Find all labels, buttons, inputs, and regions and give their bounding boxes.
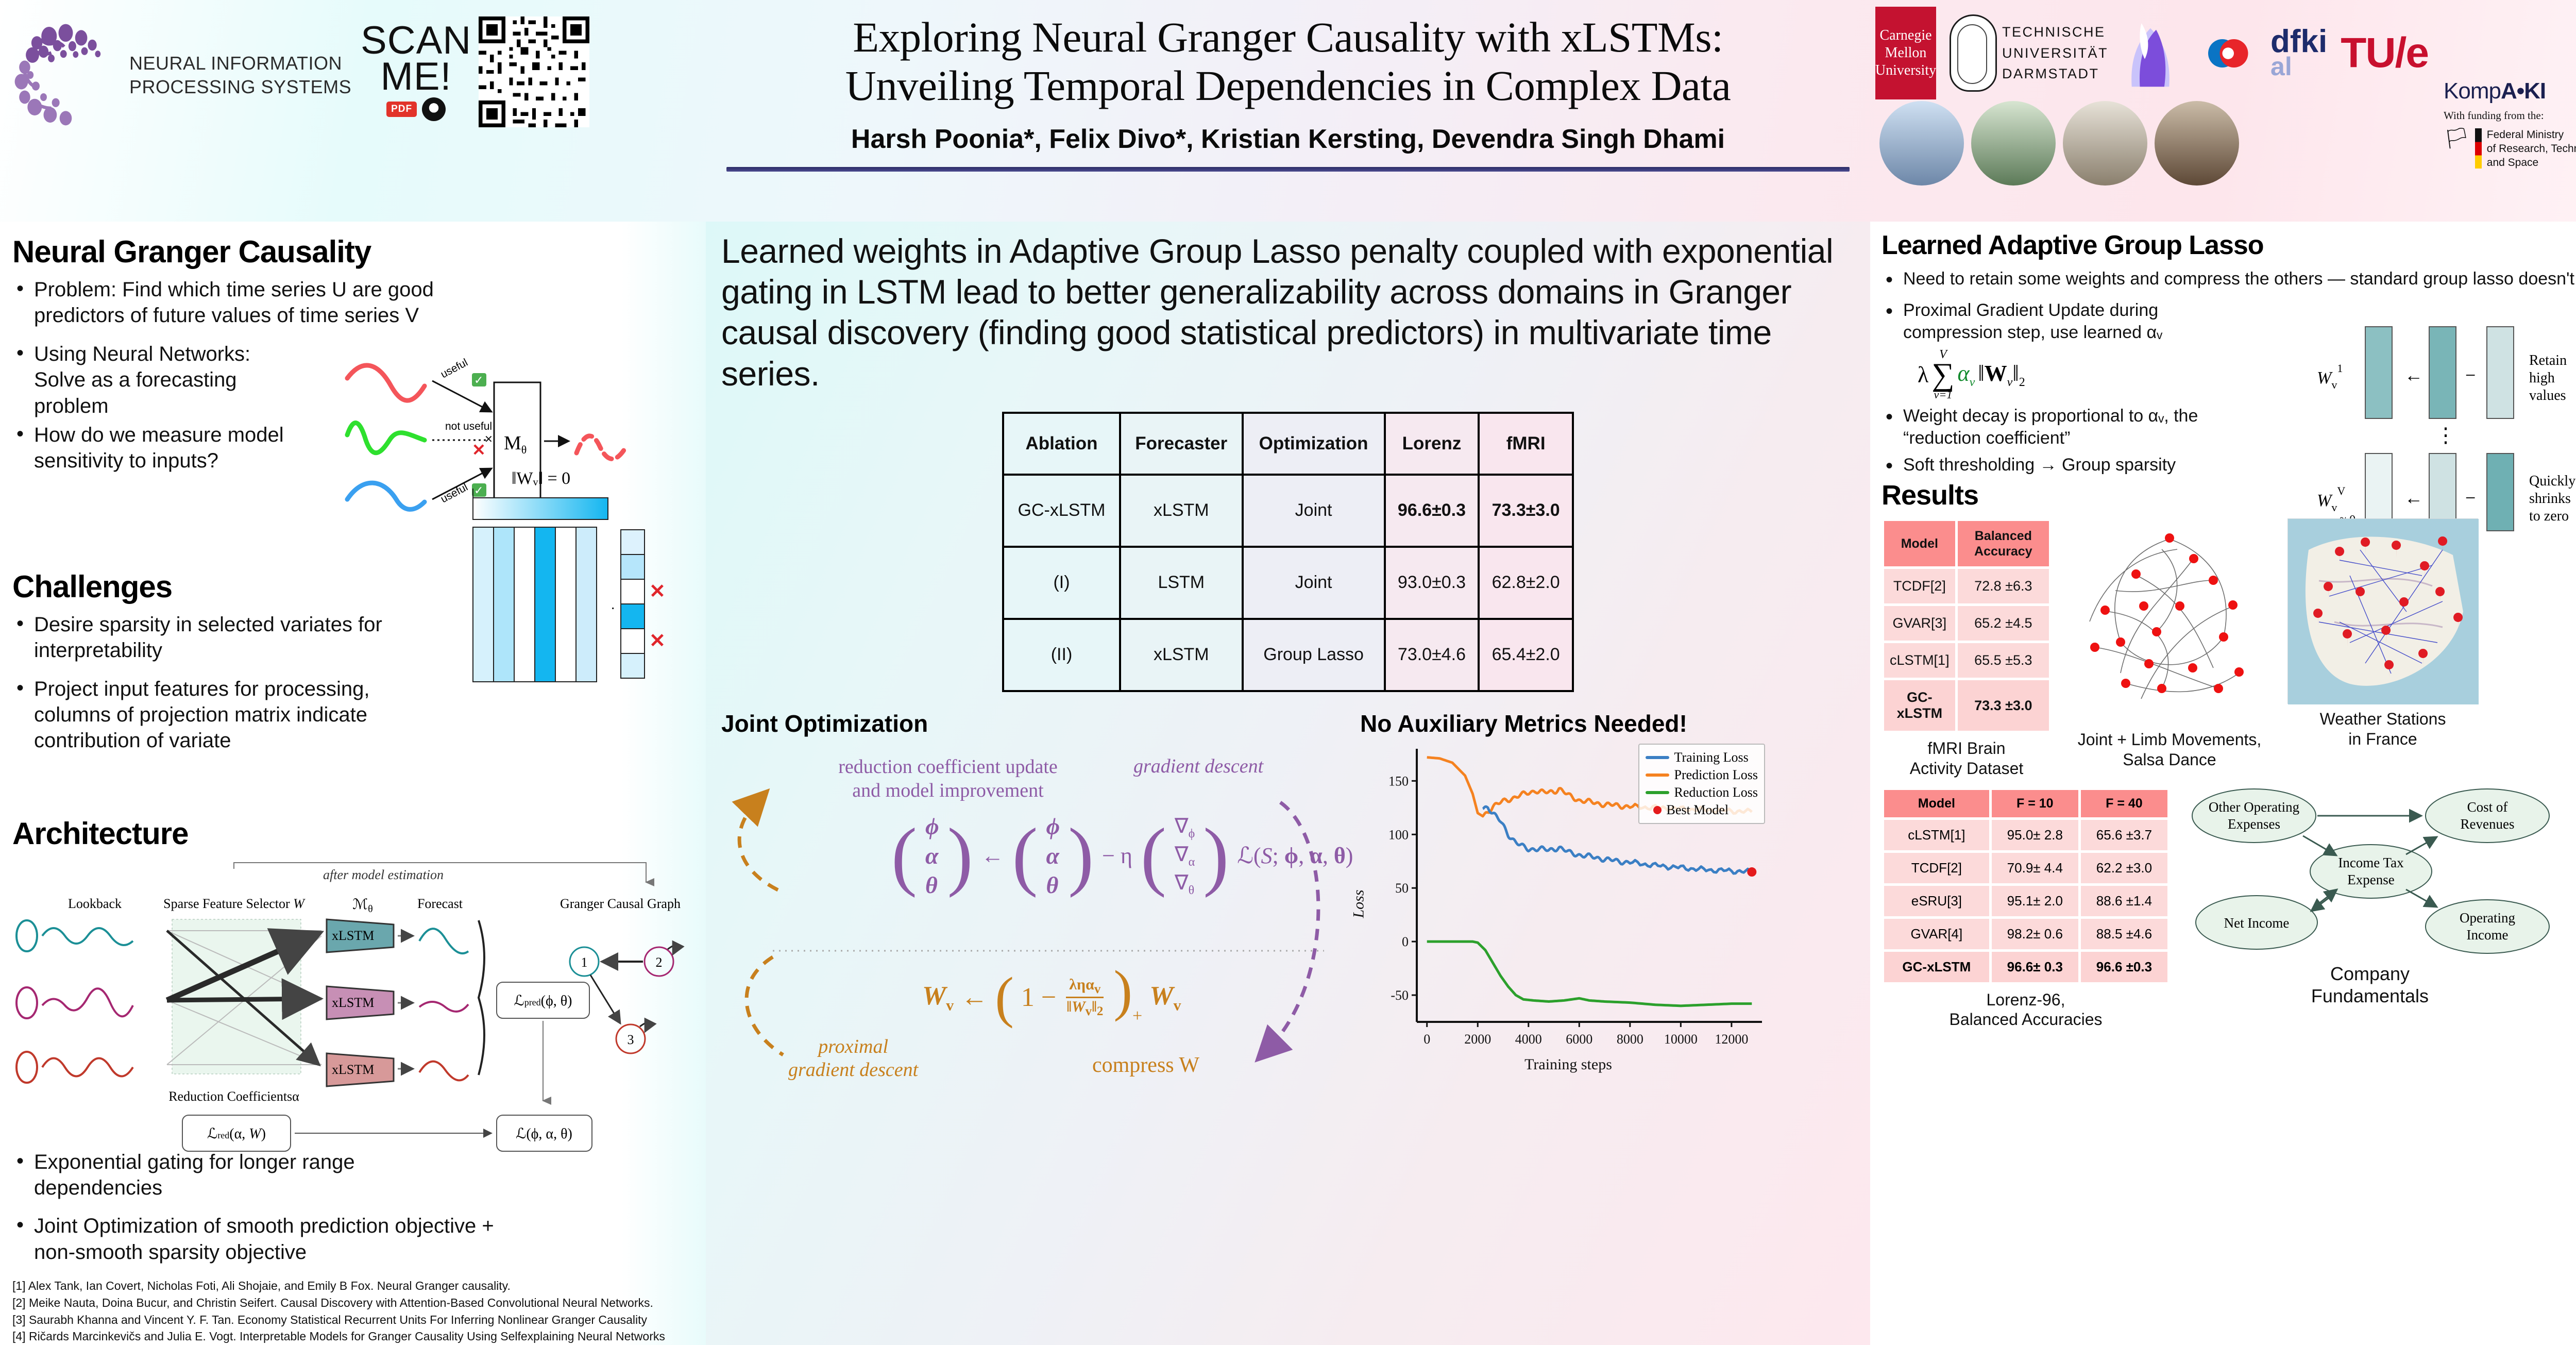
shrink-l2: shrinks [2529,491,2571,507]
caption-salsa: Joint + Limb Movements, Salsa Dance [2059,730,2280,769]
ablation-table: Ablation Forecaster Optimization Lorenz … [1002,412,1574,692]
xlstm-label: xLSTM [332,1062,374,1077]
kompaki-block: KompA•KI With funding from the: 🏳 Federa… [2444,78,2576,170]
proximal-gradient-descent-label: proximal gradient descent [788,1035,918,1082]
section-heading-learned-adaptive-group-lasso: Learned Adaptive Group Lasso [1882,230,2576,261]
joint-optimization-panel: Joint Optimization [721,710,1355,1091]
section-heading-joint-optimization: Joint Optimization [721,710,1355,737]
node-label: Other Operating [2209,799,2299,815]
lorenz-results-block: Model F = 10 F = 40 cLSTM[1] 95.0± 2.8 6… [1882,787,2170,1030]
svg-text:✕: ✕ [484,434,493,445]
scan-line-2: ME! [361,59,471,95]
svg-text:−: − [2465,487,2476,508]
cell: 65.4±2.0 [1479,619,1573,691]
caption-line: Weather Stations [2287,709,2478,729]
cell: Joint [1243,547,1385,619]
header-divider [726,167,1850,172]
reference-item: [4] Ričards Marcinkevičs and Julia E. Vo… [12,1328,692,1345]
tud-l3: DARMSTADT [2002,63,2108,85]
poster-header: NEURAL INFORMATION PROCESSING SYSTEMS SC… [0,0,2576,222]
bmbf-logo: 🏳 Federal Ministry of Research, Technolo… [2444,128,2576,170]
tud-wordmark: TECHNISCHE UNIVERSITÄT DARMSTADT [2002,22,2108,85]
cell: LSTM [1120,547,1243,619]
reduction-coefficients-label: Reduction Coefficientsα [168,1089,299,1104]
reference-item: [2] Meike Nauta, Doina Bucur, and Christ… [12,1294,692,1312]
svg-text:2000: 2000 [1464,1032,1491,1047]
shrink-l1: Quickly [2529,473,2575,489]
table-row: TCDF[2] 72.8 ±6.3 [1884,569,2049,603]
author-photos [1879,101,2239,186]
scan-label: SCAN ME! [361,23,471,95]
cell: xLSTM [1120,475,1243,547]
ministry-text: Federal Ministry of Research, Technology… [2487,128,2576,170]
column-right: Learned Adaptive Group Lasso Need to ret… [1870,222,2576,1345]
lorenz-results-table: Model F = 10 F = 40 cLSTM[1] 95.0± 2.8 6… [1882,787,2170,985]
svg-text:12000: 12000 [1715,1032,1748,1047]
cross-icon: ✕ [649,630,666,652]
gradient-update-equation: ( ϕαθ ) ← ( ϕαθ ) − η ( ∇ϕ∇α∇θ ) ℒ(S; ϕ,… [891,813,1353,899]
svg-text:10000: 10000 [1664,1032,1698,1047]
reduction-update-l2: and model improvement [783,779,1113,802]
cell: GC-xLSTM [1003,475,1120,547]
cmu-l1: Carnegie [1875,27,1936,44]
svg-text:2: 2 [656,955,663,970]
pdf-badge[interactable]: PDF [386,102,417,117]
list-item: Soft thresholding → Group sparsity [1882,454,2273,476]
node-label: Net Income [2224,915,2290,931]
legend-entry: Best Model [1646,801,1758,819]
cell: 70.9± 4.4 [1992,853,2078,883]
neurips-line-1: NEURAL INFORMATION [129,52,351,75]
lookback-label: Lookback [68,896,122,911]
weather-stations-map-figure [2287,518,2478,704]
svg-text:3: 3 [628,1032,634,1047]
middle-bottom-row: Joint Optimization [721,710,1855,1091]
not-useful-label: not useful [445,421,492,432]
proximal-l1: proximal [788,1035,918,1059]
list-item: Joint Optimization of smooth prediction … [12,1213,538,1265]
svg-text:-50: -50 [1391,988,1409,1003]
cell: (II) [1003,619,1120,691]
avatar [2155,101,2239,186]
cell: 62.8±2.0 [1479,547,1573,619]
svg-text:✓: ✓ [474,374,483,386]
granger-graph-label: Granger Causal Graph [560,896,681,911]
results-row-1: Model Balanced Accuracy TCDF[2] 72.8 ±6.… [1882,518,2576,778]
vertical-dots-icon: ⋮ [2435,424,2456,447]
group-lasso-penalty-equation: λ V ∑ v=1 αv ‖Wv‖2 [1918,349,2025,399]
svg-text:1: 1 [581,955,588,970]
svg-text:150: 150 [1388,774,1409,788]
header-left: NEURAL INFORMATION PROCESSING SYSTEMS SC… [0,0,706,222]
table-row: GC-xLSTM 73.3 ±3.0 [1884,680,2049,731]
xlstm-label: xLSTM [332,928,374,943]
node-label: Expense [2347,872,2394,887]
reduction-update-label: reduction coefficient update and model i… [783,755,1113,803]
legend-label: Prediction Loss [1674,767,1758,783]
legend-entry: Training Loss [1646,749,1758,766]
page-title: Exploring Neural Granger Causality with … [845,13,1731,110]
references-block: [1] Alex Tank, Ian Covert, Nicholas Foti… [12,1277,692,1345]
cell: GC-xLSTM [1884,680,1955,731]
proximal-update-equation: Wv ← ( 1 − ληαv ‖Wv‖2 )+ Wv [922,973,1181,1021]
table-row: GVAR[4] 98.2± 0.6 88.5 ±4.6 [1884,919,2167,949]
cell: Group Lasso [1243,619,1385,691]
col-header-f10: F = 10 [1992,790,2078,817]
github-icon[interactable] [422,97,446,121]
cell: cLSTM[1] [1884,643,1955,678]
scan-line-1: SCAN [361,23,471,59]
svg-text:−: − [2465,365,2476,385]
cell: 96.6±0.3 [1385,475,1479,547]
useful-label-1: useful [439,358,470,380]
caption-line: Activity Dataset [1882,759,2052,778]
svg-text:4000: 4000 [1515,1032,1542,1047]
kompaki-bold: A•KI [2501,78,2546,104]
svg-text:←: ← [2404,365,2423,385]
caption-line: Joint + Limb Movements, [2059,730,2280,749]
cell: 88.5 ±4.6 [2081,919,2167,949]
results-row-2: Model F = 10 F = 40 cLSTM[1] 95.0± 2.8 6… [1882,787,2576,1030]
col-header-model: Model [1884,790,1989,817]
col-header-ablation: Ablation [1003,413,1120,475]
sparse-selector-label: Sparse Feature Selector W [163,896,306,911]
table-row: cLSTM[1] 95.0± 2.8 65.6 ±3.7 [1884,820,2167,850]
table-row: cLSTM[1] 65.5 ±5.3 [1884,643,2049,678]
avatar [1971,101,2056,186]
cell: 88.6 ±1.4 [2081,886,2167,916]
fmri-results-table: Model Balanced Accuracy TCDF[2] 72.8 ±6.… [1882,518,2052,733]
cmu-l3: University [1875,62,1936,79]
chart-ylabel: Loss [1350,889,1368,918]
caption-line: Company [2179,963,2561,985]
node-label: Income [2467,927,2509,943]
tud-l2: UNIVERSITÄT [2002,43,2108,64]
gradient-descent-label: gradient descent [1133,755,1263,778]
cmu-logo: Carnegie Mellon University [1875,7,1936,99]
title-line-1: Exploring Neural Granger Causality with … [845,13,1731,62]
table-row: (II) xLSTM Group Lasso 73.0±4.6 65.4±2.0 [1003,619,1573,691]
cell: GC-xLSTM [1884,952,1989,982]
cell: GVAR[3] [1884,606,1955,641]
legend-label: Best Model [1667,802,1729,818]
cell: 96.6± 0.3 [1992,952,2078,982]
weight-bar [2429,327,2456,418]
caption-line: Balanced Accuracies [1882,1010,2170,1029]
legend-entry: Reduction Loss [1646,784,1758,801]
cell: 96.6 ±0.3 [2081,952,2167,982]
legend-entry: Prediction Loss [1646,766,1758,784]
co-logo [2193,21,2257,86]
list-item: Exponential gating for longer range depe… [12,1149,373,1201]
cell: TCDF[2] [1884,569,1955,603]
cell: 65.5 ±5.3 [1958,643,2049,678]
scan-me-block[interactable]: SCAN ME! PDF [361,6,589,127]
cell: 73.3±3.0 [1479,475,1573,547]
cross-icon: ✕ [472,441,486,459]
key-claim-text: Learned weights in Adaptive Group Lasso … [721,231,1855,394]
cell: 95.1± 2.0 [1992,886,2078,916]
col-header-lorenz: Lorenz [1385,413,1479,475]
cell: (I) [1003,547,1120,619]
cell: 73.0±4.6 [1385,619,1479,691]
qr-code-icon[interactable] [479,16,589,127]
poster-body: Neural Granger Causality Problem: Find w… [0,222,2576,1345]
cell: 65.2 ±4.5 [1958,606,2049,641]
caption-company: Company Fundamentals [2179,963,2561,1007]
funding-label: With funding from the: [2444,109,2576,122]
column-middle: Learned weights in Adaptive Group Lasso … [706,222,1870,1345]
company-fundamentals-figure: Other Operating Expenses Cost of Revenue… [2179,787,2561,957]
retain-l3: values [2529,388,2566,403]
kompaki-logo: KompA•KI [2444,78,2576,104]
l-pred-label: ℒpred(ϕ, θ) [514,993,572,1009]
table-header-row: Model Balanced Accuracy [1884,521,2049,566]
col-header-forecaster: Forecaster [1120,413,1243,475]
poster-root: NEURAL INFORMATION PROCESSING SYSTEMS SC… [0,0,2576,1318]
node-label: Operating [2460,910,2515,926]
retain-l1: Retain [2529,352,2567,368]
shrink-l3: to zero [2529,508,2569,524]
tud-l1: TECHNISCHE [2002,22,2108,43]
avatar [2063,101,2147,186]
retain-l2: high [2529,370,2555,386]
caption-line: Lorenz-96, [1882,990,2170,1010]
table-row: (I) LSTM Joint 93.0±0.3 62.8±2.0 [1003,547,1573,619]
l-red-label: ℒred(α, W) [207,1126,266,1142]
cmu-l2: Mellon [1875,44,1936,62]
table-header-row: Model F = 10 F = 40 [1884,790,2167,817]
caption-lorenz: Lorenz-96, Balanced Accuracies [1882,990,2170,1030]
affiliation-logos: Carnegie Mellon University TECHNISCHE UN… [1875,4,2428,102]
svg-text:0: 0 [1402,934,1409,949]
authors-line: Harsh Poonia*, Felix Divo*, Kristian Ker… [851,124,1725,155]
column-left: Neural Granger Causality Problem: Find w… [0,222,706,1345]
svg-text:6000: 6000 [1566,1032,1592,1047]
cell: TCDF[2] [1884,853,1989,883]
table-row: GC-xLSTM xLSTM Joint 96.6±0.3 73.3±3.0 [1003,475,1573,547]
salsa-graph-block: Joint + Limb Movements, Salsa Dance [2059,518,2280,778]
header-right: Carnegie Mellon University TECHNISCHE UN… [1870,0,2576,222]
caption-line: in France [2287,729,2478,749]
cell: xLSTM [1120,619,1243,691]
sparsity-figure: ‖Wᵥ‖ = 0 · [464,469,680,737]
cell: 72.8 ±6.3 [1958,569,2049,603]
list-item: Weight decay is proportional to αᵥ, the … [1882,405,2242,449]
caption-line: fMRI Brain [1882,738,2052,758]
cell: 93.0±0.3 [1385,547,1479,619]
caption-weather: Weather Stations in France [2287,709,2478,749]
chart-xlabel: Training steps [1367,1056,1769,1073]
table-header-row: Ablation Forecaster Optimization Lorenz … [1003,413,1573,475]
table-row: GC-xLSTM 96.6± 0.3 96.6 ±0.3 [1884,952,2167,982]
list-item: Desire sparsity in selected variates for… [12,612,404,664]
caption-line: Salsa Dance [2059,750,2280,769]
node-label: Revenues [2461,816,2515,832]
list-item: Need to retain some weights and compress… [1882,268,2576,290]
reference-item: [3] Saurabh Khanna and Vincent Y. F. Tan… [12,1312,692,1329]
weight-compression-figure: Wv1 ← − Retain high values ⋮ WvV ← − [2308,315,2576,542]
after-model-estimation-label: after model estimation [323,867,444,882]
chart-legend: Training Loss Prediction Loss Reduction … [1638,744,1766,824]
loss-chart: -50050100150020004000600080001000012000 … [1367,741,1769,1070]
table-row: eSRU[3] 95.1± 2.0 88.6 ±1.4 [1884,886,2167,916]
reduction-update-l1: reduction coefficient update [783,755,1113,779]
header-center: Exploring Neural Granger Causality with … [706,0,1870,222]
company-fundamentals-block: Other Operating Expenses Cost of Revenue… [2179,787,2561,1007]
section-heading-neural-granger-causality: Neural Granger Causality [12,234,692,270]
athena-head-icon [1950,14,1997,92]
compress-w-label: compress W [1092,1053,1199,1078]
ministry-l2: of Research, Technology [2487,142,2576,156]
svg-text:·: · [611,599,615,615]
neurips-logo: NEURAL INFORMATION PROCESSING SYSTEMS [0,6,361,130]
table-row: TCDF[2] 70.9± 4.4 62.2 ±3.0 [1884,853,2167,883]
svg-text:←: ← [2404,487,2423,508]
avatar [1879,101,1964,186]
cell: 98.2± 0.6 [1992,919,2078,949]
svg-text:50: 50 [1395,881,1409,896]
ministry-l3: and Space [2487,156,2576,170]
cell: 62.2 ±3.0 [2081,853,2167,883]
tu-darmstadt-logo: TECHNISCHE UNIVERSITÄT DARMSTADT [1950,14,2108,92]
fmri-results-block: Model Balanced Accuracy TCDF[2] 72.8 ±6.… [1882,518,2052,778]
list-item: Proximal Gradient Update during compress… [1882,299,2242,344]
caption-line: Fundamentals [2179,985,2561,1007]
col-header-optimization: Optimization [1243,413,1385,475]
weight-bar [2487,453,2514,531]
sparsity-norm-label: ‖Wᵥ‖ = 0 [474,469,608,489]
weather-map-block: Weather Stations in France [2287,518,2478,778]
list-item: Problem: Find which time series U are go… [12,277,486,329]
svg-text:Wv1: Wv1 [2317,362,2343,391]
node-label: Expenses [2228,816,2280,832]
legend-label: Reduction Loss [1674,785,1758,800]
neurips-mark-icon [10,20,121,130]
section-heading-architecture: Architecture [12,816,692,851]
col-header-balanced-accuracy: Balanced Accuracy [1958,521,2049,566]
cross-icon: ✕ [649,581,666,602]
neurips-line-2: PROCESSING SYSTEMS [129,75,351,98]
node-label: Income Tax [2338,855,2404,870]
cell: Joint [1243,475,1385,547]
tue-logo: TU/e [2341,29,2428,77]
node-label: Cost of [2467,799,2508,815]
xlstm-label: xLSTM [332,995,374,1010]
salsa-causal-graph-figure [2059,518,2280,725]
svg-text:WvV: WvV [2317,484,2345,514]
reference-item: [1] Alex Tank, Ian Covert, Nicholas Foti… [12,1277,692,1294]
title-line-2: Unveiling Temporal Dependencies in Compl… [845,62,1731,110]
cell: cLSTM[1] [1884,820,1989,850]
cell: 65.6 ±3.7 [2081,820,2167,850]
cell: eSRU[3] [1884,886,1989,916]
weight-bar [2487,327,2514,418]
federal-eagle-icon: 🏳 [2444,128,2470,149]
cell: 73.3 ±3.0 [1958,680,2049,731]
caption-fmri: fMRI Brain Activity Dataset [1882,738,2052,778]
scan-badges: PDF [361,97,471,121]
architecture-figure: after model estimation Lookback Sparse F… [12,859,692,1168]
ministry-l1: Federal Ministry [2487,128,2576,142]
table-row: GVAR[3] 65.2 ±4.5 [1884,606,2049,641]
cell: 95.0± 2.8 [1992,820,2078,850]
list-item: Project input features for processing, c… [12,676,419,754]
cell: GVAR[4] [1884,919,1989,949]
neurips-wordmark: NEURAL INFORMATION PROCESSING SYSTEMS [129,52,351,98]
training-curves-panel: No Auxiliary Metrics Needed! -5005010015… [1360,710,1855,1091]
col-header-f40: F = 40 [2081,790,2167,817]
forecast-label: Forecast [417,896,463,911]
proximal-l2: gradient descent [788,1058,918,1082]
section-heading-no-auxiliary-metrics: No Auxiliary Metrics Needed! [1360,710,1855,737]
dfki-logo: dfki al [2270,28,2327,77]
svg-text:8000: 8000 [1617,1032,1643,1047]
model-label: ℳθ [352,897,373,915]
col-header-fmri: fMRI [1479,413,1573,475]
weight-bar [2365,327,2392,418]
german-flag-bar-icon [2475,128,2482,169]
col-header-model: Model [1884,521,1955,566]
legend-label: Training Loss [1674,750,1749,765]
svg-text:0: 0 [1423,1032,1430,1047]
kompaki-light: Komp [2444,78,2501,104]
l-total-label: ℒ(ϕ, α, θ) [516,1126,572,1142]
svg-text:100: 100 [1388,827,1409,842]
hessian-ai-logo [2122,12,2179,94]
